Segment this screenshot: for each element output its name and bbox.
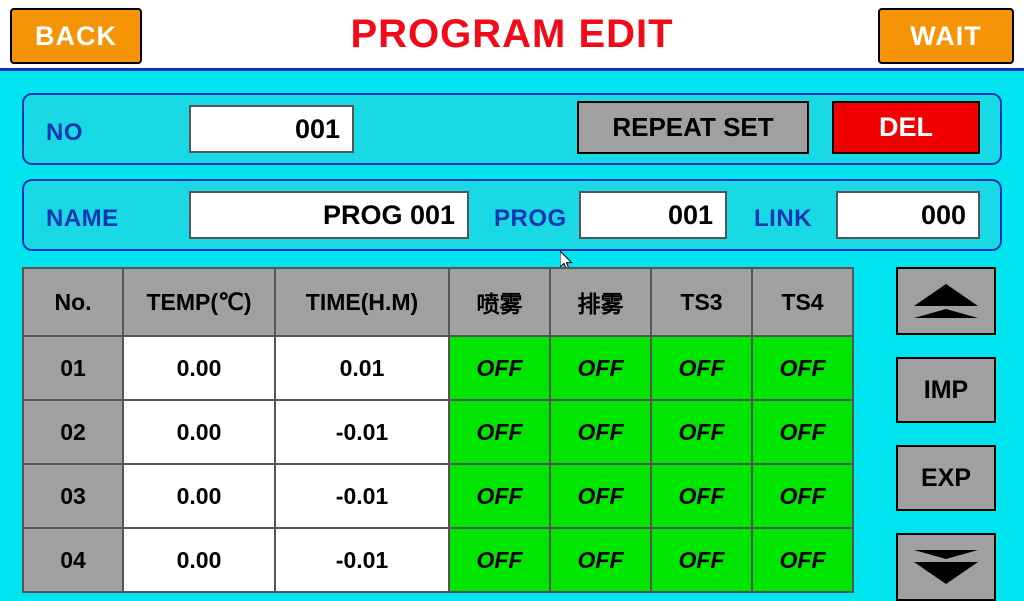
page-title: PROGRAM EDIT xyxy=(0,0,1024,68)
column-header-temp: TEMP(℃) xyxy=(123,268,275,336)
double-triangle-up-icon xyxy=(914,284,978,318)
cell-step-no: 02 xyxy=(23,400,123,464)
link-label: LINK xyxy=(754,205,812,233)
column-header-ts3: TS3 xyxy=(651,268,752,336)
cell-spray[interactable]: OFF xyxy=(449,528,550,592)
cell-temp[interactable]: 0.00 xyxy=(123,464,275,528)
cell-ts4[interactable]: OFF xyxy=(752,528,853,592)
prog-label: PROG xyxy=(494,205,567,233)
cell-ts3[interactable]: OFF xyxy=(651,336,752,400)
no-value-field[interactable]: 001 xyxy=(189,105,354,153)
cell-time[interactable]: -0.01 xyxy=(275,464,449,528)
name-label: NAME xyxy=(46,205,119,233)
cell-ts3[interactable]: OFF xyxy=(651,528,752,592)
no-label: NO xyxy=(46,119,83,147)
cell-ts4[interactable]: OFF xyxy=(752,336,853,400)
column-header-spray: 喷雾 xyxy=(449,268,550,336)
scroll-up-button[interactable] xyxy=(896,267,996,335)
double-triangle-down-icon xyxy=(914,550,978,584)
delete-button[interactable]: DEL xyxy=(832,101,980,154)
cell-exhaust[interactable]: OFF xyxy=(550,400,651,464)
cell-step-no: 03 xyxy=(23,464,123,528)
scroll-down-button[interactable] xyxy=(896,533,996,601)
cell-ts4[interactable]: OFF xyxy=(752,464,853,528)
cell-exhaust[interactable]: OFF xyxy=(550,336,651,400)
table-row[interactable]: 04 0.00 -0.01 OFF OFF OFF OFF xyxy=(23,528,853,592)
cell-time[interactable]: -0.01 xyxy=(275,400,449,464)
cell-temp[interactable]: 0.00 xyxy=(123,336,275,400)
cell-ts4[interactable]: OFF xyxy=(752,400,853,464)
name-value-field[interactable]: PROG 001 xyxy=(189,191,469,239)
repeat-set-button[interactable]: REPEAT SET xyxy=(577,101,809,154)
cell-exhaust[interactable]: OFF xyxy=(550,528,651,592)
main-content: NO 001 REPEAT SET DEL NAME PROG 001 PROG… xyxy=(0,68,1024,600)
cell-temp[interactable]: 0.00 xyxy=(123,400,275,464)
column-header-ts4: TS4 xyxy=(752,268,853,336)
link-value-field[interactable]: 000 xyxy=(836,191,980,239)
table-row[interactable]: 03 0.00 -0.01 OFF OFF OFF OFF xyxy=(23,464,853,528)
program-number-panel: NO 001 REPEAT SET DEL xyxy=(22,93,1002,165)
cell-spray[interactable]: OFF xyxy=(449,400,550,464)
cell-exhaust[interactable]: OFF xyxy=(550,464,651,528)
column-header-time: TIME(H.M) xyxy=(275,268,449,336)
cell-temp[interactable]: 0.00 xyxy=(123,528,275,592)
column-header-no: No. xyxy=(23,268,123,336)
cell-time[interactable]: 0.01 xyxy=(275,336,449,400)
column-header-exhaust: 排雾 xyxy=(550,268,651,336)
cell-ts3[interactable]: OFF xyxy=(651,400,752,464)
import-button[interactable]: IMP xyxy=(896,357,996,423)
cell-time[interactable]: -0.01 xyxy=(275,528,449,592)
cell-step-no: 01 xyxy=(23,336,123,400)
cell-step-no: 04 xyxy=(23,528,123,592)
table-row[interactable]: 02 0.00 -0.01 OFF OFF OFF OFF xyxy=(23,400,853,464)
cell-ts3[interactable]: OFF xyxy=(651,464,752,528)
wait-status-button[interactable]: WAIT xyxy=(878,8,1014,64)
program-step-table: No. TEMP(℃) TIME(H.M) 喷雾 排雾 TS3 TS4 01 0… xyxy=(22,267,854,593)
cell-spray[interactable]: OFF xyxy=(449,464,550,528)
cell-spray[interactable]: OFF xyxy=(449,336,550,400)
table-row[interactable]: 01 0.00 0.01 OFF OFF OFF OFF xyxy=(23,336,853,400)
export-button[interactable]: EXP xyxy=(896,445,996,511)
prog-value-field[interactable]: 001 xyxy=(579,191,727,239)
table-header-row: No. TEMP(℃) TIME(H.M) 喷雾 排雾 TS3 TS4 xyxy=(23,268,853,336)
title-bar: PROGRAM EDIT BACK WAIT xyxy=(0,0,1024,68)
program-name-panel: NAME PROG 001 PROG 001 LINK 000 xyxy=(22,179,1002,251)
back-button[interactable]: BACK xyxy=(10,8,142,64)
